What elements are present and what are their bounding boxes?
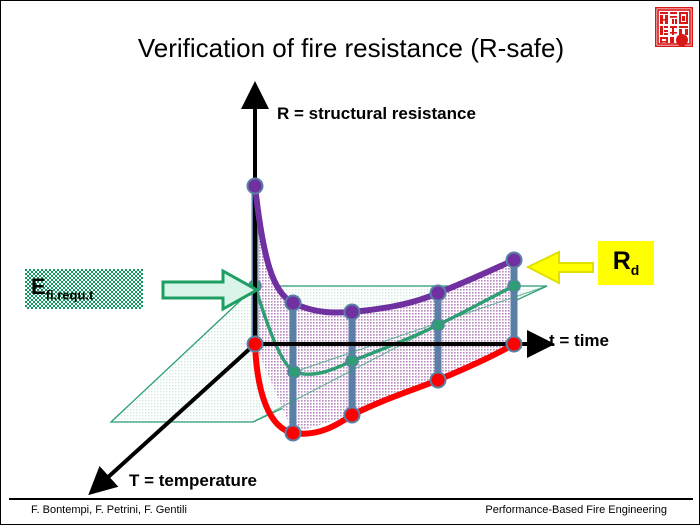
label-box-design-resistance: Rd [598,241,654,285]
label-Rd: Rd [613,249,640,277]
footer-divider [9,498,693,500]
x-axis-label: t = time [549,331,609,351]
label-E-fi-requ-t: Efi.requ.t [25,276,93,301]
z-axis-label: T = temperature [129,471,257,491]
label-Rd-main: R [613,247,631,275]
arrow-left-yellow-icon [528,252,593,283]
label-E-sub: fi.requ.t [46,288,94,303]
footer-authors: F. Bontempi, F. Petrini, F. Gentili [31,504,187,516]
y-axis-label: R = structural resistance [277,104,476,124]
label-box-required-action: Efi.requ.t [25,269,143,309]
fire-resistance-diagram [1,1,700,526]
slide-canvas: Verification of fire resistance (R-safe) [0,0,700,525]
footer-subject: Performance-Based Fire Engineering [485,504,667,516]
label-Rd-sub: d [631,262,640,278]
label-E-main: E [31,274,46,299]
